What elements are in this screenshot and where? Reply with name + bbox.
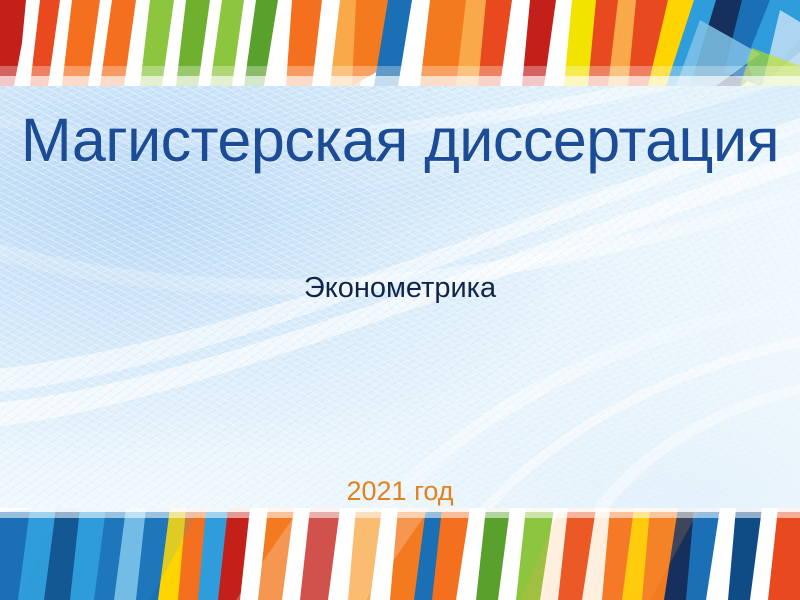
page-title: Магистерская диссертация: [0, 108, 800, 172]
slide-canvas: Магистерская диссертация Эконометрика 20…: [0, 0, 800, 600]
top-decoration-band: [0, 0, 800, 86]
slide-year: 2021 год: [0, 476, 800, 507]
bottom-decoration-band: [0, 508, 800, 600]
slide-subtitle: Эконометрика: [0, 272, 800, 305]
